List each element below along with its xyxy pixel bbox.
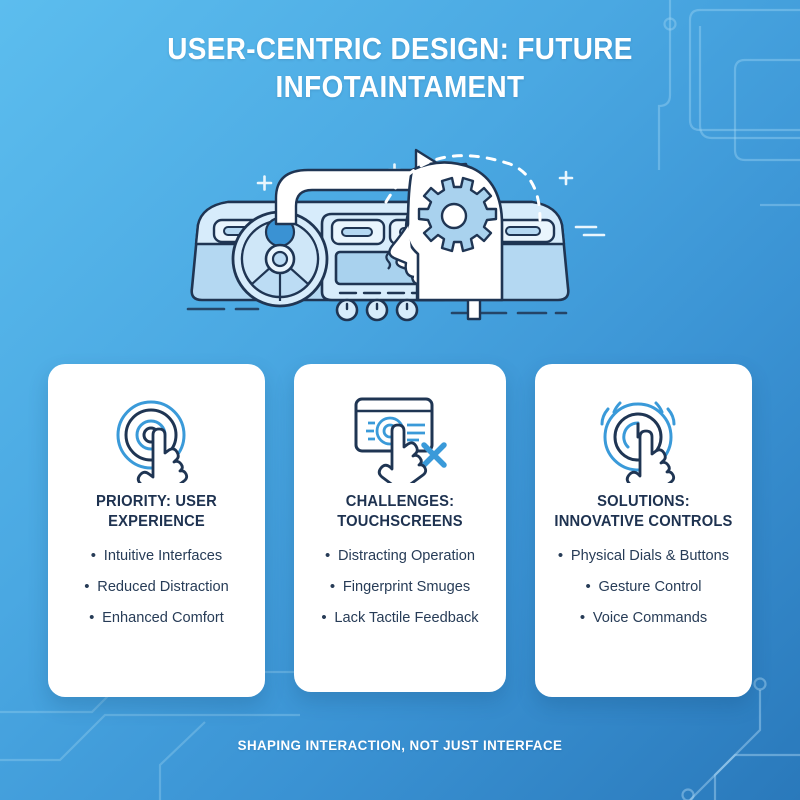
control-knobs — [337, 300, 417, 320]
list-item: Fingerprint Smuges — [330, 579, 470, 596]
card-list: Intuitive Interfaces Reduced Distraction… — [60, 548, 253, 626]
card-solutions-innovative-controls[interactable]: SOLUTIONS: INNOVATIVE CONTROLS Physical … — [535, 364, 752, 697]
list-item: Physical Dials & Buttons — [558, 548, 729, 565]
list-item: Voice Commands — [580, 610, 707, 627]
card-heading: CHALLENGES: TOUCHSCREENS — [311, 492, 490, 534]
card-list: Physical Dials & Buttons Gesture Control… — [547, 548, 740, 626]
card-icon-wrapper — [109, 390, 205, 486]
card-heading: PRIORITY: USER EXPERIENCE — [65, 492, 248, 534]
rotary-dial-hand-icon — [594, 393, 694, 483]
steering-wheel — [233, 212, 327, 306]
footer-tagline: SHAPING INTERACTION, NOT JUST INTERFACE — [24, 738, 776, 754]
card-icon-wrapper — [594, 390, 694, 486]
list-item: Enhanced Comfort — [89, 610, 224, 627]
list-item: Gesture Control — [585, 579, 701, 596]
gear-icon — [419, 178, 496, 251]
touch-ripple-hand-icon — [109, 393, 205, 483]
cards-row: PRIORITY: USER EXPERIENCE Intuitive Inte… — [48, 364, 752, 700]
list-item: Distracting Operation — [325, 548, 475, 565]
card-list: Distracting Operation Fingerprint Smuges… — [306, 548, 494, 626]
list-item: Lack Tactile Feedback — [321, 610, 478, 627]
page-title: USER-CENTRIC DESIGN: FUTURE INFOTAINTAME… — [103, 30, 697, 106]
card-challenges-touchscreens[interactable]: CHALLENGES: TOUCHSCREENS Distracting Ope… — [294, 364, 506, 692]
hero-illustration — [180, 128, 610, 323]
infographic-poster: USER-CENTRIC DESIGN: FUTURE INFOTAINTAME… — [0, 0, 800, 800]
card-heading: SOLUTIONS: INNOVATIVE CONTROLS — [552, 492, 735, 534]
card-priority-user-experience[interactable]: PRIORITY: USER EXPERIENCE Intuitive Inte… — [48, 364, 265, 697]
touchscreen-error-hand-icon — [350, 393, 450, 483]
list-item: Intuitive Interfaces — [91, 548, 222, 565]
card-icon-wrapper — [350, 390, 450, 486]
list-item: Reduced Distraction — [84, 579, 228, 596]
